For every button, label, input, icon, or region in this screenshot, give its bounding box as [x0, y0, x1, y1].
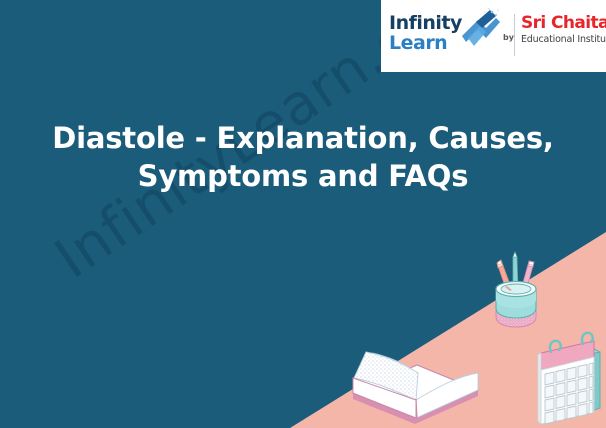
sri-chaitanya-subtitle: Educational Institutions	[521, 35, 605, 45]
sri-chaitanya-logo: Sri Chaitanya Educational Institutions	[521, 15, 605, 45]
logo-divider	[514, 14, 515, 56]
page-title-line-1: Diastole - Explanation, Causes,	[52, 121, 553, 155]
brand-logo-panel: Infinity Learn by Sri Chaitanya Educatio…	[381, 0, 606, 72]
sri-chaitanya-wordmark: Sri Chaitanya	[521, 15, 605, 33]
by-label: by	[503, 33, 514, 42]
page-title-line-2: Symptoms and FAQs	[138, 159, 469, 193]
page-title: Diastole - Explanation, Causes, Symptoms…	[38, 119, 568, 196]
arrow-swoosh-icon	[456, 6, 504, 58]
promo-banner: InfinityLearn.com	[0, 0, 606, 428]
